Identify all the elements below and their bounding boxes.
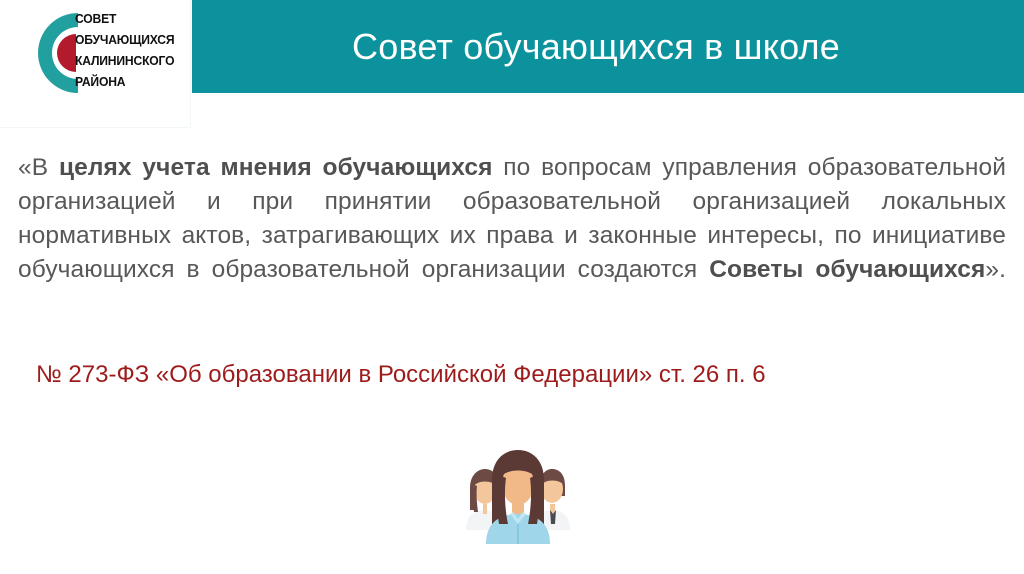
logo-line-4: района <box>75 71 182 92</box>
quote-bold-phrase-1: целях учета мнения обучающихся <box>59 154 493 181</box>
logo-line-3: Калининского <box>75 50 182 71</box>
quote-close: ». <box>985 256 1006 283</box>
header-bar: Совет обучающихся в школе <box>192 0 1024 93</box>
quote-bold-phrase-2: Советы обучающихся <box>709 256 985 283</box>
logo-box: Совет обучающихся Калининского района <box>0 0 191 128</box>
quote-open: «В <box>18 154 59 181</box>
logo-line-1: Совет <box>75 8 182 29</box>
page-title: Совет обучающихся в школе <box>192 26 1024 68</box>
group-of-people-icon <box>452 444 584 548</box>
law-citation: № 273-ФЗ «Об образовании в Российской Фе… <box>36 360 996 390</box>
logo-line-2: обучающихся <box>75 29 182 50</box>
logo-wordmark: Совет обучающихся Калининского района <box>75 8 182 92</box>
law-quote-paragraph: «В целях учета мнения обучающихся по воп… <box>18 151 1006 287</box>
center-person <box>486 450 550 544</box>
